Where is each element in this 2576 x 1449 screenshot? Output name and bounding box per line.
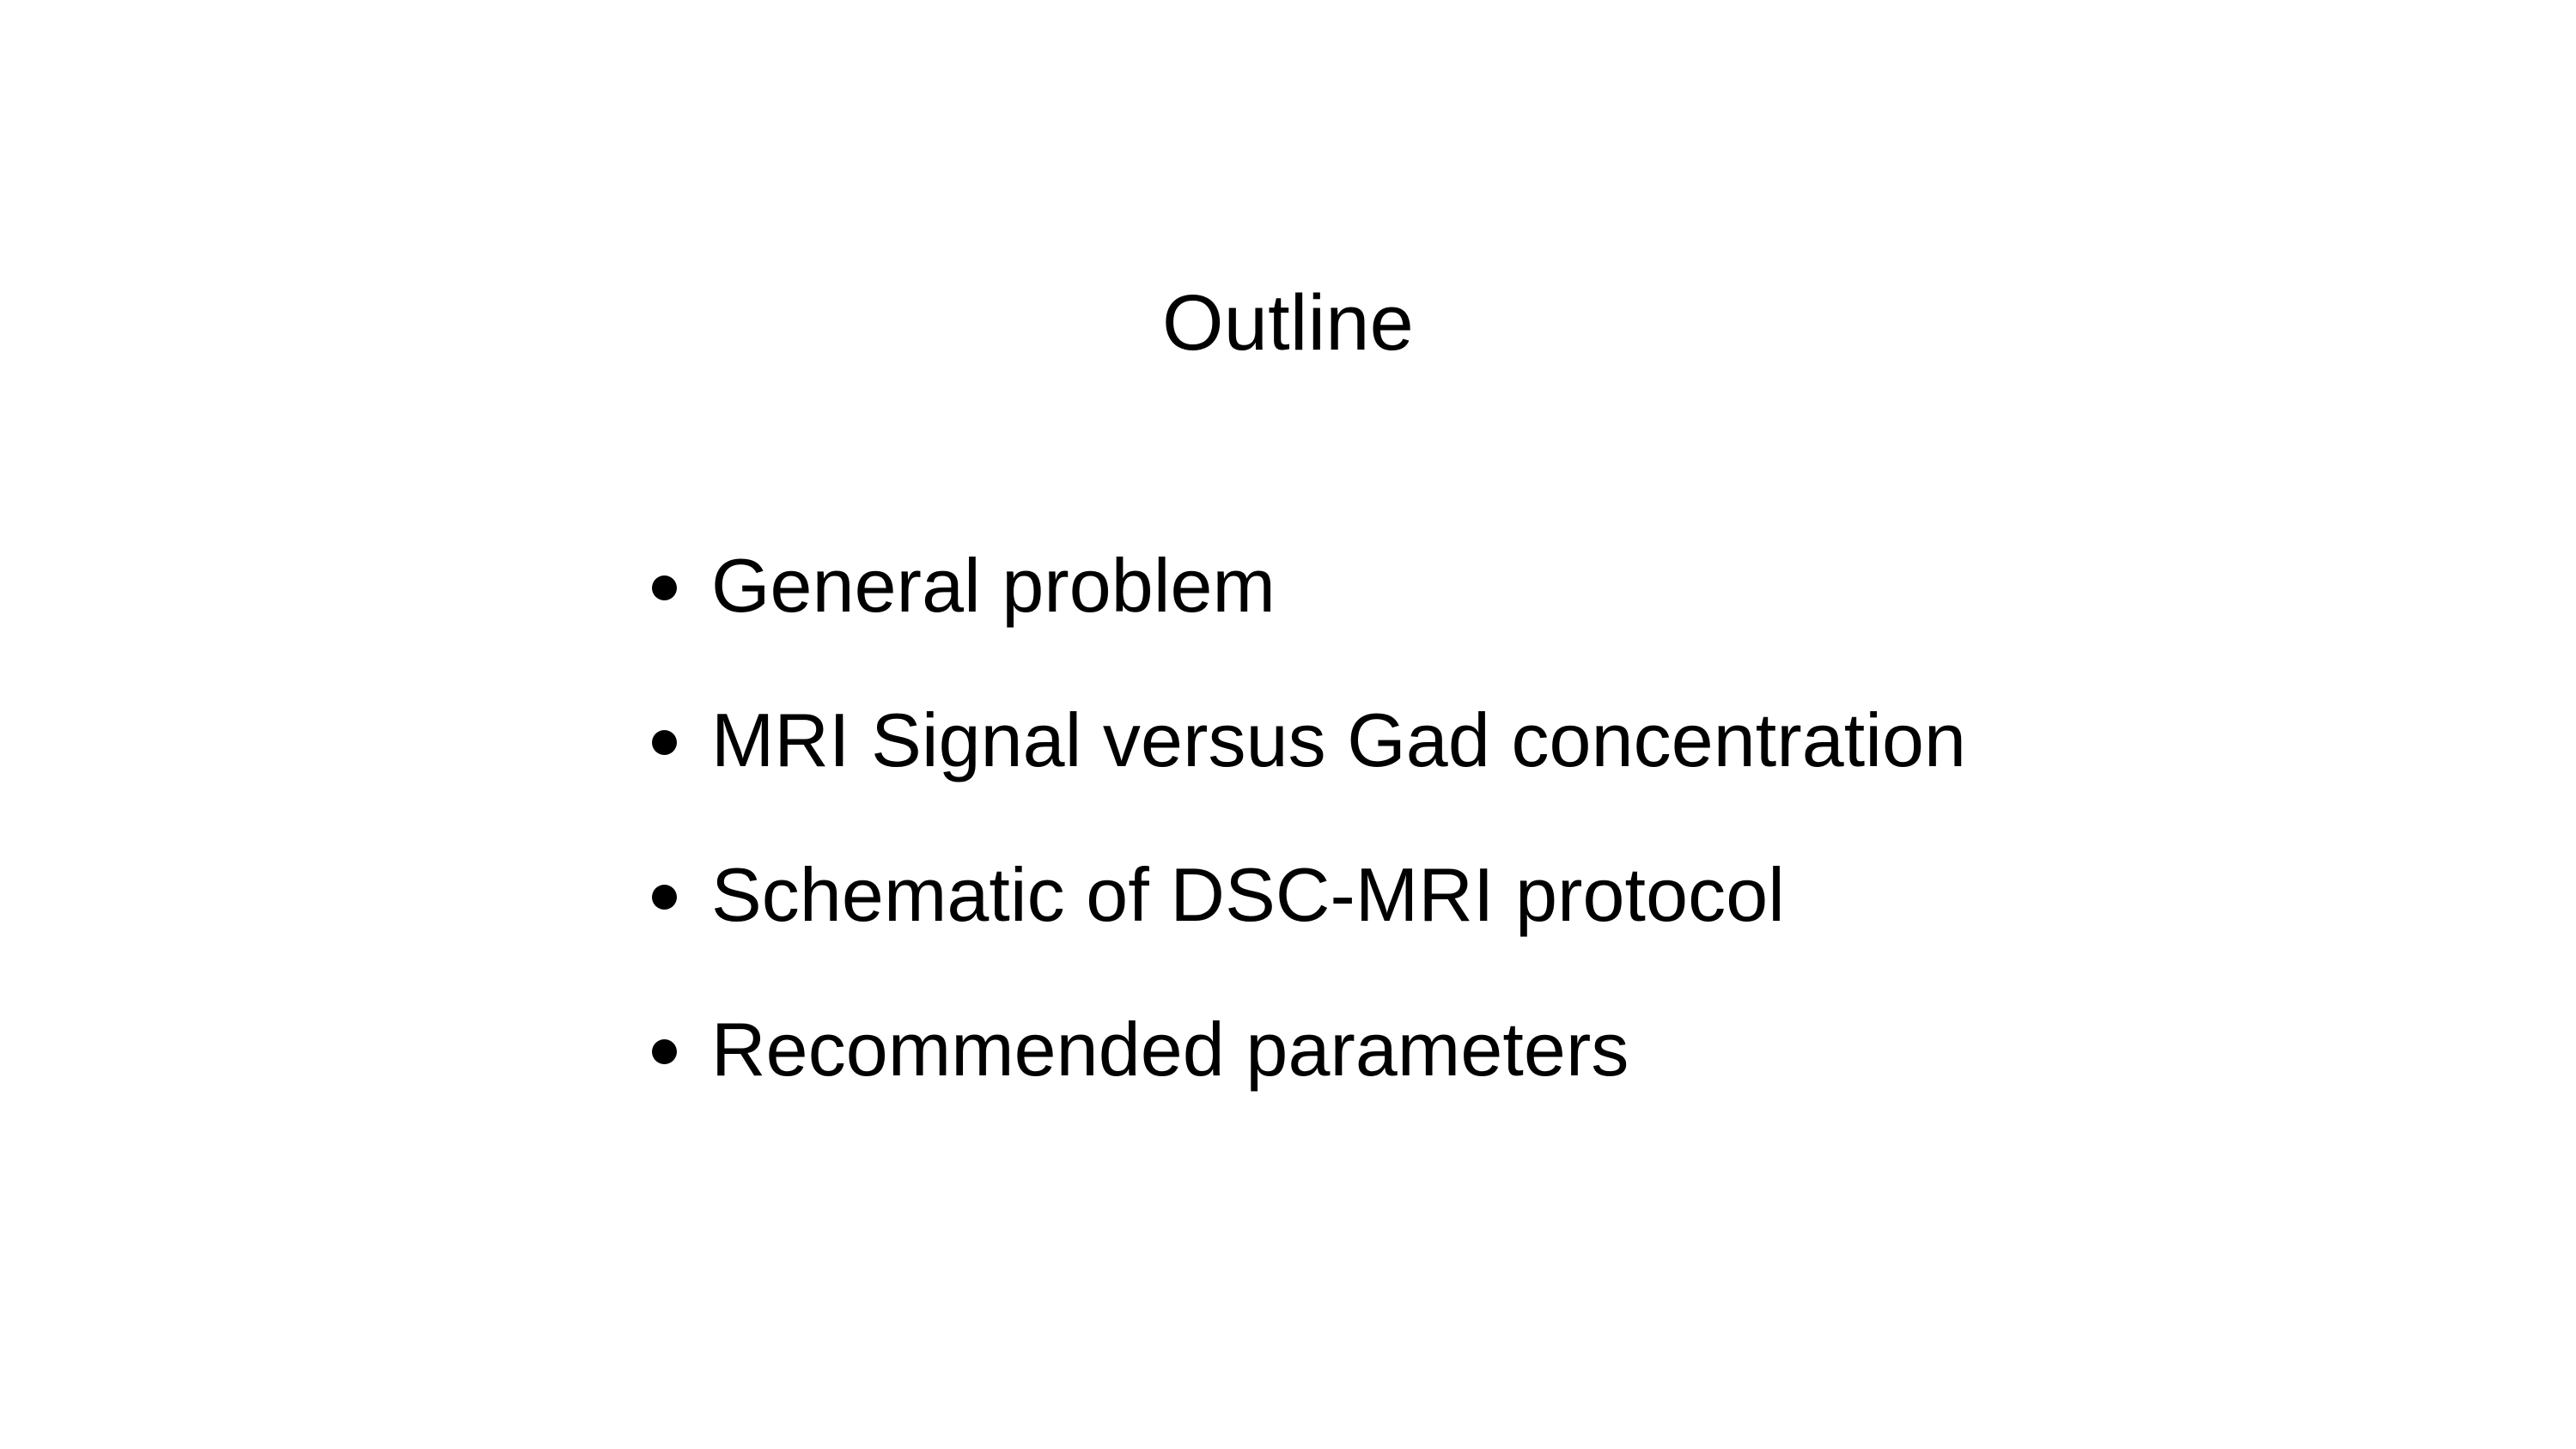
list-item: Recommended parameters — [646, 1008, 2192, 1163]
list-item-label: General problem — [711, 545, 1276, 627]
bullet-dot-icon — [652, 575, 677, 600]
bullet-dot-icon — [652, 1039, 677, 1064]
bullet-dot-icon — [652, 885, 677, 910]
list-item: Schematic of DSC-MRI protocol — [646, 854, 2192, 1008]
list-item: General problem — [646, 545, 2192, 699]
list-item-label: Schematic of DSC-MRI protocol — [711, 854, 1785, 936]
bullet-dot-icon — [652, 730, 677, 755]
page-title: Outline — [1162, 283, 1414, 362]
outline-bullet-list: General problem MRI Signal versus Gad co… — [646, 545, 2192, 1163]
presentation-slide: Outline General problem MRI Signal versu… — [0, 0, 2576, 1449]
list-item: MRI Signal versus Gad concentration — [646, 699, 2192, 854]
slide-title-container: Outline — [0, 230, 2576, 415]
list-item-label: Recommended parameters — [711, 1008, 1629, 1091]
list-item-label: MRI Signal versus Gad concentration — [711, 699, 1966, 782]
